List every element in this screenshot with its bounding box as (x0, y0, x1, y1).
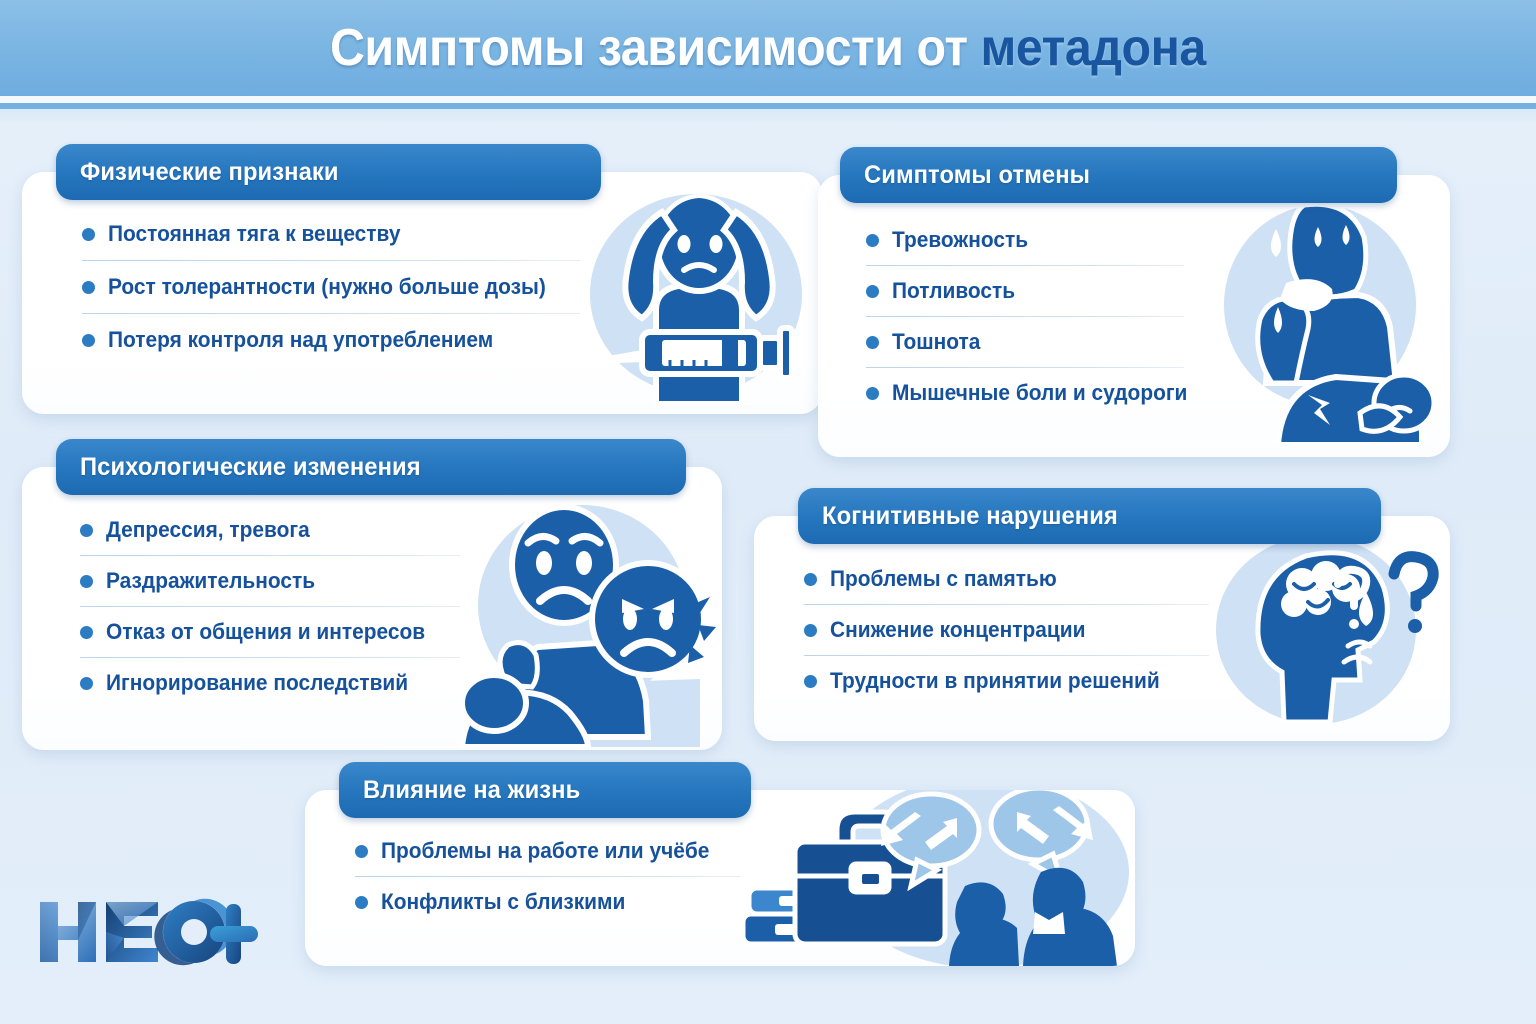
list-item-label: Депрессия, тревога (106, 517, 310, 543)
list-item-label: Тошнота (892, 329, 980, 355)
bullet-dot-icon (80, 626, 93, 639)
list-separator (804, 604, 1209, 605)
poster-header: Симптомы зависимости от метадона (0, 0, 1536, 96)
card-psychological-changes-header[interactable]: Психологические изменения (56, 439, 686, 495)
list-separator (80, 606, 460, 607)
bullet-dot-icon (866, 285, 879, 298)
bullet-dot-icon (804, 573, 817, 586)
person-sweating-cramps-icon (1208, 187, 1448, 445)
list-item-label: Раздражительность (106, 568, 315, 594)
list-item-label: Игнорирование последствий (106, 670, 408, 696)
list-item: Трудности в принятии решений (804, 662, 1204, 700)
card-psychological-changes-list: Депрессия, тревога Раздражительность Отк… (80, 511, 480, 702)
card-physical-signs: Постоянная тяга к веществу Рост толерант… (22, 172, 822, 414)
briefcase-books-conflict-icon (735, 790, 1135, 966)
bullet-dot-icon (866, 387, 879, 400)
card-physical-signs-body: Постоянная тяга к веществу Рост толерант… (22, 172, 822, 414)
bullet-dot-icon (804, 675, 817, 688)
list-separator (866, 265, 1184, 266)
list-item: Раздражительность (80, 562, 480, 600)
list-separator (82, 313, 580, 314)
list-separator (82, 260, 580, 261)
card-psychological-changes-title: Психологические изменения (80, 453, 421, 482)
bullet-dot-icon (80, 677, 93, 690)
list-item: Тревожность (866, 221, 1206, 259)
list-item-label: Постоянная тяга к веществу (108, 221, 400, 247)
card-psychological-changes: Депрессия, тревога Раздражительность Отк… (22, 467, 722, 750)
list-item: Игнорирование последствий (80, 664, 480, 702)
list-item: Постоянная тяга к веществу (82, 214, 582, 254)
list-item-label: Конфликты с близкими (381, 889, 625, 915)
list-item: Конфликты с близкими (355, 883, 755, 921)
card-psychological-changes-body: Депрессия, тревога Раздражительность Отк… (22, 467, 722, 750)
header-divider-fade (0, 109, 1536, 123)
bullet-dot-icon (82, 228, 95, 241)
list-separator (355, 876, 740, 877)
bullet-dot-icon (355, 896, 368, 909)
list-item-label: Трудности в принятии решений (830, 668, 1160, 694)
card-withdrawal-symptoms-title: Симптомы отмены (864, 161, 1090, 190)
card-cognitive-impairment-body: Проблемы с памятью Снижение концентрации… (754, 516, 1450, 741)
head-brain-question-icon (1198, 530, 1440, 730)
card-withdrawal-symptoms: Тревожность Потливость Тошнота Мышечные … (818, 175, 1450, 457)
bullet-dot-icon (80, 524, 93, 537)
list-item: Рост толерантности (нужно больше дозы) (82, 267, 582, 307)
page-title: Симптомы зависимости от метадона (330, 18, 1206, 78)
list-item: Снижение концентрации (804, 611, 1204, 649)
page-title-accent: метадона (981, 19, 1206, 77)
list-item-label: Отказ от общения и интересов (106, 619, 425, 645)
list-separator (804, 655, 1209, 656)
card-cognitive-impairment-list: Проблемы с памятью Снижение концентрации… (804, 560, 1204, 700)
card-cognitive-impairment: Проблемы с памятью Снижение концентрации… (754, 516, 1450, 741)
card-physical-signs-title: Физические признаки (80, 158, 339, 187)
list-item-label: Проблемы на работе или учёбе (381, 838, 709, 864)
list-item-label: Рост толерантности (нужно больше дозы) (108, 274, 546, 300)
person-headache-syringe-icon (570, 182, 816, 404)
bullet-dot-icon (866, 336, 879, 349)
list-item: Отказ от общения и интересов (80, 613, 480, 651)
list-item: Потливость (866, 272, 1206, 310)
bullet-dot-icon (355, 845, 368, 858)
card-life-impact-title: Влияние на жизнь (363, 776, 580, 805)
bullet-dot-icon (866, 234, 879, 247)
card-life-impact-header[interactable]: Влияние на жизнь (339, 762, 751, 818)
card-withdrawal-symptoms-list: Тревожность Потливость Тошнота Мышечные … (866, 221, 1206, 412)
card-life-impact-list: Проблемы на работе или учёбе Конфликты с… (355, 832, 755, 921)
list-separator (866, 367, 1184, 368)
card-cognitive-impairment-header[interactable]: Когнитивные нарушения (798, 488, 1381, 544)
list-separator (80, 555, 460, 556)
card-withdrawal-symptoms-header[interactable]: Симптомы отмены (840, 147, 1397, 203)
header-divider-white (0, 96, 1536, 103)
list-separator (866, 316, 1184, 317)
list-item-label: Проблемы с памятью (830, 566, 1057, 592)
list-item-label: Снижение концентрации (830, 617, 1085, 643)
list-item: Тошнота (866, 323, 1206, 361)
card-physical-signs-header[interactable]: Физические признаки (56, 144, 601, 200)
list-separator (80, 657, 460, 658)
neo-plus-logo[interactable] (34, 888, 260, 974)
list-item: Проблемы с памятью (804, 560, 1204, 598)
list-item: Потеря контроля над употреблением (82, 320, 582, 360)
bullet-dot-icon (804, 624, 817, 637)
list-item: Мышечные боли и судороги (866, 374, 1206, 412)
page-title-main: Симптомы зависимости от (330, 19, 981, 77)
card-cognitive-impairment-title: Когнитивные нарушения (822, 502, 1118, 531)
bullet-dot-icon (82, 334, 95, 347)
card-withdrawal-symptoms-body: Тревожность Потливость Тошнота Мышечные … (818, 175, 1450, 457)
list-item-label: Потеря контроля над употреблением (108, 327, 493, 353)
bullet-dot-icon (82, 281, 95, 294)
list-item: Проблемы на работе или учёбе (355, 832, 755, 870)
card-physical-signs-list: Постоянная тяга к веществу Рост толерант… (82, 214, 582, 360)
list-item-label: Мышечные боли и судороги (892, 380, 1187, 406)
list-item: Депрессия, тревога (80, 511, 480, 549)
infographic-poster: Симптомы зависимости от метадона (0, 0, 1536, 1024)
list-item-label: Тревожность (892, 227, 1028, 253)
sad-and-angry-faces-icon (452, 487, 718, 747)
bullet-dot-icon (80, 575, 93, 588)
card-life-impact: Проблемы на работе или учёбе Конфликты с… (305, 790, 1135, 966)
list-item-label: Потливость (892, 278, 1015, 304)
